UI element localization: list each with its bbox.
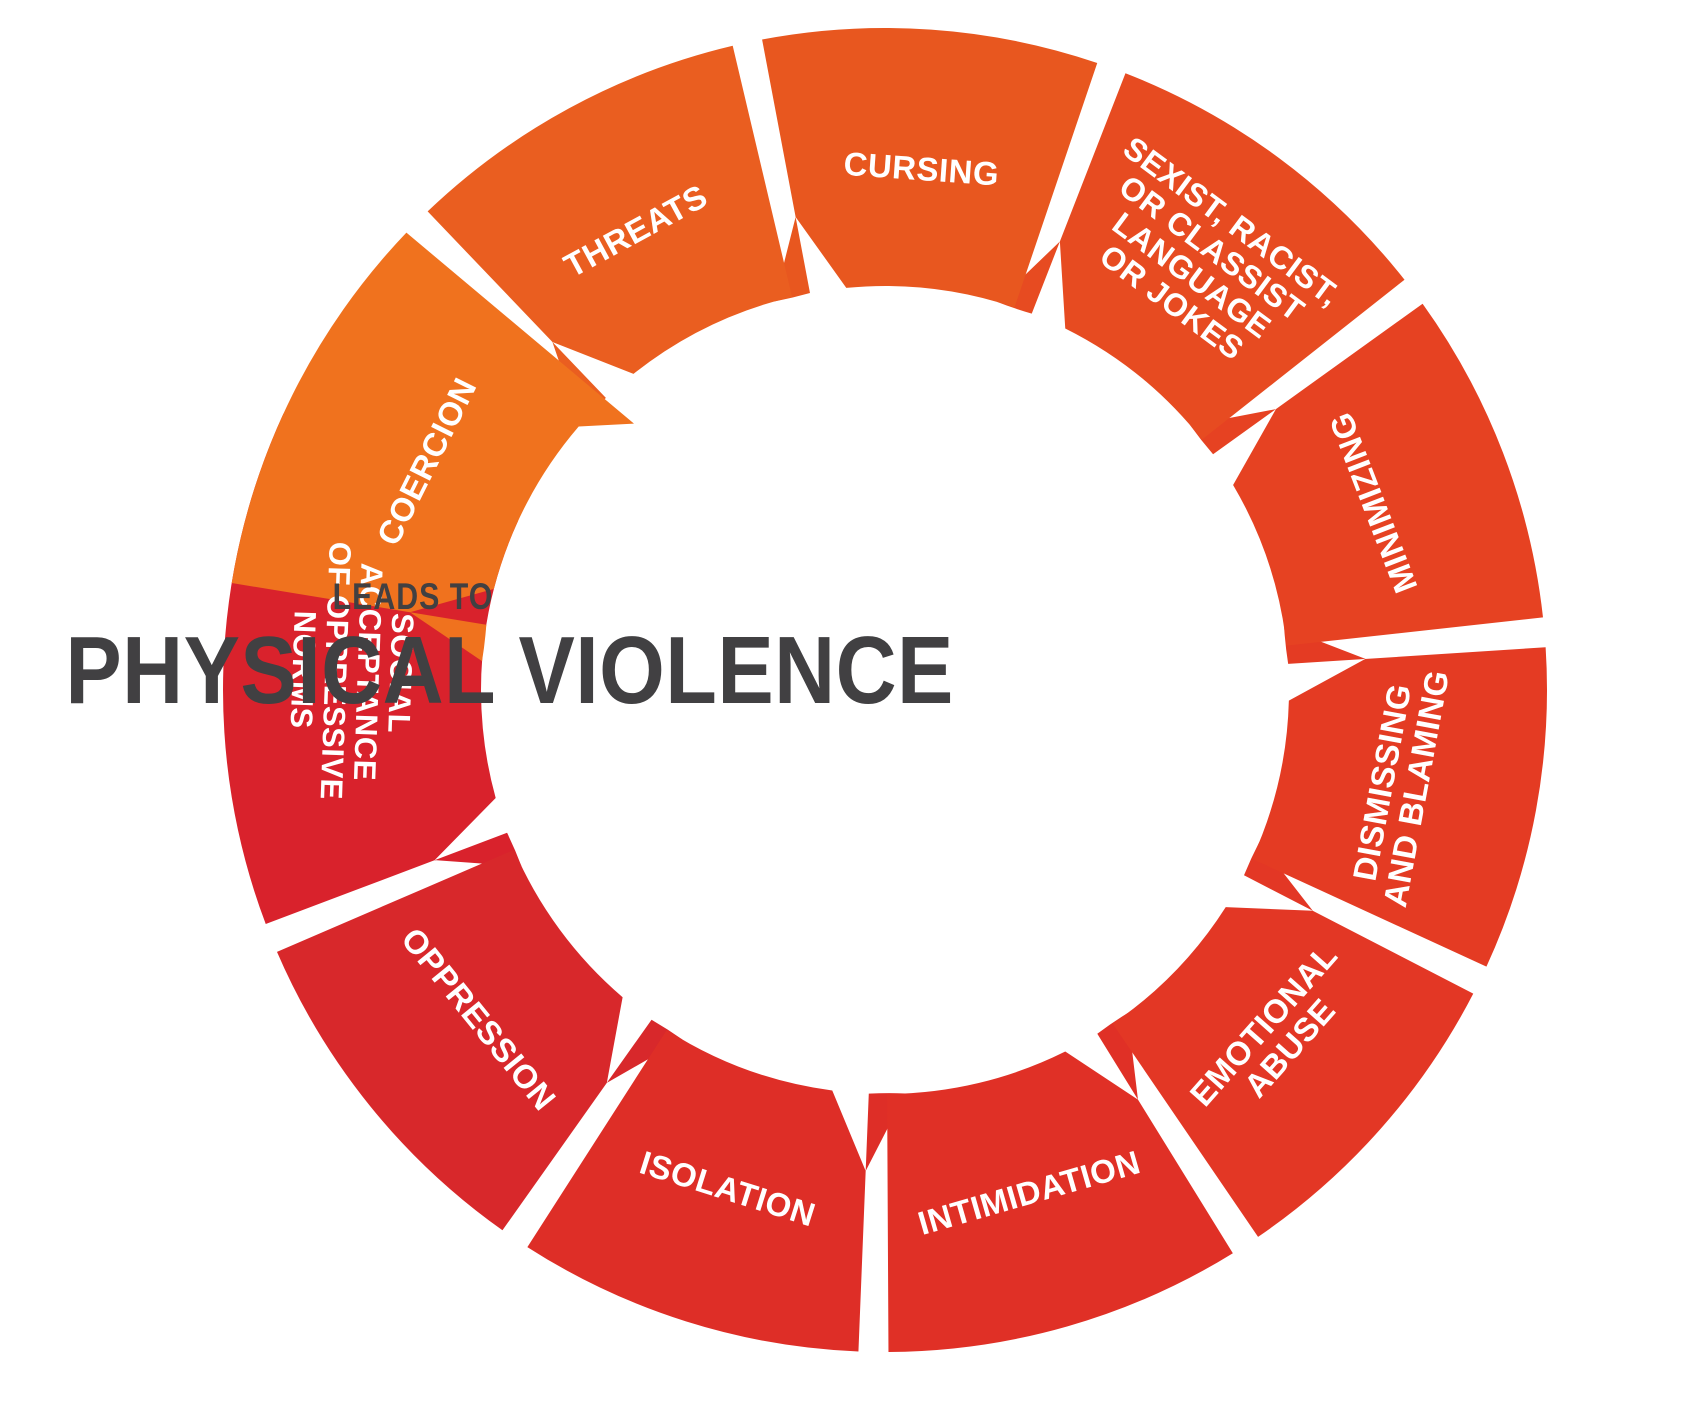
infographic-canvas: SOCIALACCEPTANCEOF OPPRESSIVENORMSOPPRES… bbox=[0, 0, 1703, 1408]
wheel-segments-group bbox=[223, 28, 1547, 1352]
wheel-label-line: NORMS bbox=[284, 610, 323, 729]
cycle-of-violence-wheel: SOCIALACCEPTANCEOF OPPRESSIVENORMSOPPRES… bbox=[0, 0, 1703, 1408]
